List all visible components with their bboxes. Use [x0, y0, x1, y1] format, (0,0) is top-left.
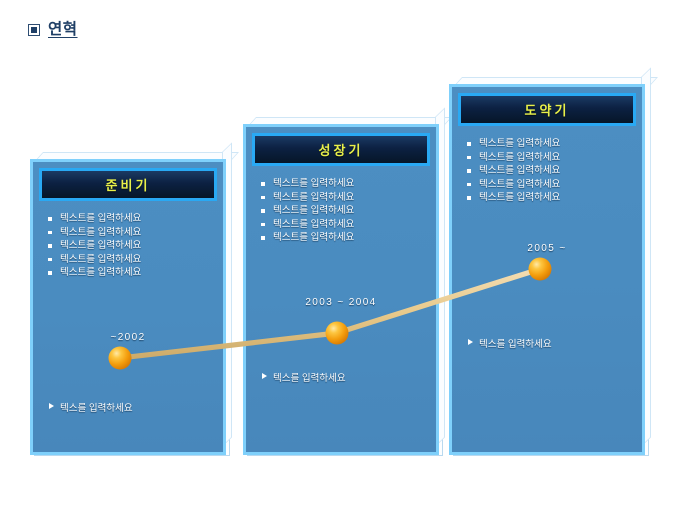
page-title-label: 연혁	[48, 22, 78, 38]
stage-1-card[interactable]: 준비기 텍스트를 입력하세요 텍스트를 입력하세요 텍스트를 입력하세요 텍스트…	[30, 159, 226, 455]
slide-canvas: 연혁 준비기 텍스트를 입력하세요 텍스트를 입력하세요 텍스트를 입력하세요 …	[0, 0, 680, 510]
stage-3-header-label: 도약기	[525, 100, 570, 119]
list-item: 텍스트를 입력하세요	[260, 204, 426, 218]
stage-1-bullet-list: 텍스트를 입력하세요 텍스트를 입력하세요 텍스트를 입력하세요 텍스트를 입력…	[47, 212, 213, 280]
list-item: 텍스트를 입력하세요	[47, 266, 213, 280]
stage-2-card-body	[246, 127, 436, 452]
stage-1-header-label: 준비기	[106, 175, 151, 194]
page-title: 연혁	[28, 22, 78, 38]
stage-3-card[interactable]: 도약기 텍스트를 입력하세요 텍스트를 입력하세요 텍스트를 입력하세요 텍스트…	[449, 84, 645, 455]
stage-2-bullet-list: 텍스트를 입력하세요 텍스트를 입력하세요 텍스트를 입력하세요 텍스트를 입력…	[260, 177, 426, 245]
list-item: 텍스트를 입력하세요	[47, 226, 213, 240]
list-item: 텍스트를 입력하세요	[466, 137, 632, 151]
stage-1-year-label: ~2002	[33, 332, 223, 343]
stage-2-year-label: 2003 ~ 2004	[246, 297, 436, 308]
list-item: 텍스트를 입력하세요	[260, 231, 426, 245]
list-item: 텍스트를 입력하세요	[260, 191, 426, 205]
stage-3-year-label: 2005 ~	[452, 243, 642, 254]
list-item: 텍스트를 입력하세요	[466, 178, 632, 192]
list-item: 텍스트를 입력하세요	[260, 177, 426, 191]
list-item: 텍스트를 입력하세요	[466, 151, 632, 165]
list-item: 텍스트를 입력하세요	[47, 212, 213, 226]
list-item: 텍스트를 입력하세요	[47, 253, 213, 267]
list-item: 텍스트를 입력하세요	[260, 218, 426, 232]
stage-1-header[interactable]: 준비기	[39, 168, 217, 201]
list-item: 텍스트를 입력하세요	[466, 164, 632, 178]
stage-1-note: 텍스를 입력하세요	[49, 400, 133, 414]
stage-3-bullet-list: 텍스트를 입력하세요 텍스트를 입력하세요 텍스트를 입력하세요 텍스트를 입력…	[466, 137, 632, 205]
stage-2-header-label: 성장기	[319, 140, 364, 159]
stage-2-header[interactable]: 성장기	[252, 133, 430, 166]
stage-3-header[interactable]: 도약기	[458, 93, 636, 126]
list-item: 텍스트를 입력하세요	[466, 191, 632, 205]
stage-2-note: 텍스를 입력하세요	[262, 370, 346, 384]
list-item: 텍스트를 입력하세요	[47, 239, 213, 253]
stage-2-card[interactable]: 성장기 텍스트를 입력하세요 텍스트를 입력하세요 텍스트를 입력하세요 텍스트…	[243, 124, 439, 455]
square-bullet-icon	[28, 24, 40, 36]
stage-3-note: 텍스를 입력하세요	[468, 336, 552, 350]
